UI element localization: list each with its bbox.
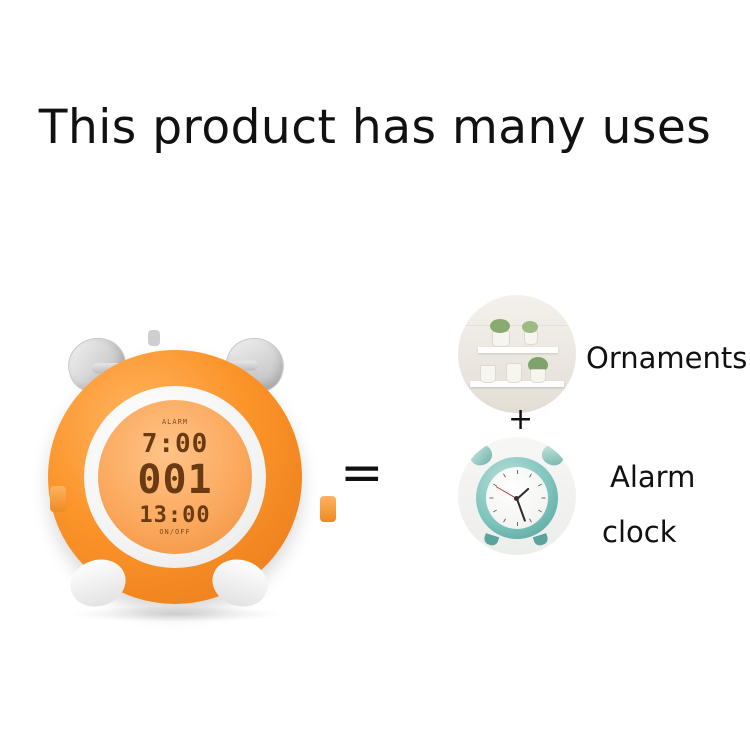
shelf-upper	[478, 347, 558, 353]
vase-lower-left	[480, 365, 496, 383]
wall-line	[458, 325, 576, 326]
page-title: This product has many uses	[0, 100, 750, 155]
lcd-screen: ALARM 7:00 001 13:00 ON/OFF	[98, 400, 252, 554]
plant-pot-upper	[492, 331, 510, 347]
vase-lower-mid	[506, 363, 522, 383]
alarm-clock-thumbnail	[458, 437, 576, 555]
bell-cap	[148, 330, 160, 346]
lcd-bottom-time: 13:00	[98, 504, 252, 528]
lcd-top-time: 7:00	[98, 430, 252, 458]
alarm-clock-face	[486, 467, 548, 529]
label-alarm: Alarm	[610, 460, 695, 494]
plus-symbol: +	[508, 405, 533, 435]
ornaments-background	[458, 295, 576, 413]
alarm-clock-case	[476, 457, 558, 539]
plant-leaves-upper-2	[522, 321, 538, 333]
lcd-bottom-label: ON/OFF	[98, 528, 252, 536]
side-button-right	[320, 496, 336, 522]
clock-hand-pin	[514, 496, 519, 501]
label-clock: clock	[602, 515, 676, 549]
lcd-top-label: ALARM	[98, 418, 252, 426]
label-ornaments: Ornaments	[586, 341, 747, 375]
product-shadow	[70, 606, 282, 622]
product-photo: ALARM 7:00 001 13:00 ON/OFF	[30, 310, 320, 650]
plant-pot-lower	[530, 369, 546, 383]
plant-pot-upper-2	[524, 331, 538, 345]
lcd-main-value: 001	[98, 458, 252, 502]
minute-hand	[516, 499, 526, 522]
side-button-left	[50, 486, 66, 512]
clock-bezel: ALARM 7:00 001 13:00 ON/OFF	[84, 386, 266, 568]
ornaments-thumbnail	[458, 295, 576, 413]
plant-leaves-upper	[490, 319, 510, 333]
equals-symbol: =	[340, 447, 384, 499]
